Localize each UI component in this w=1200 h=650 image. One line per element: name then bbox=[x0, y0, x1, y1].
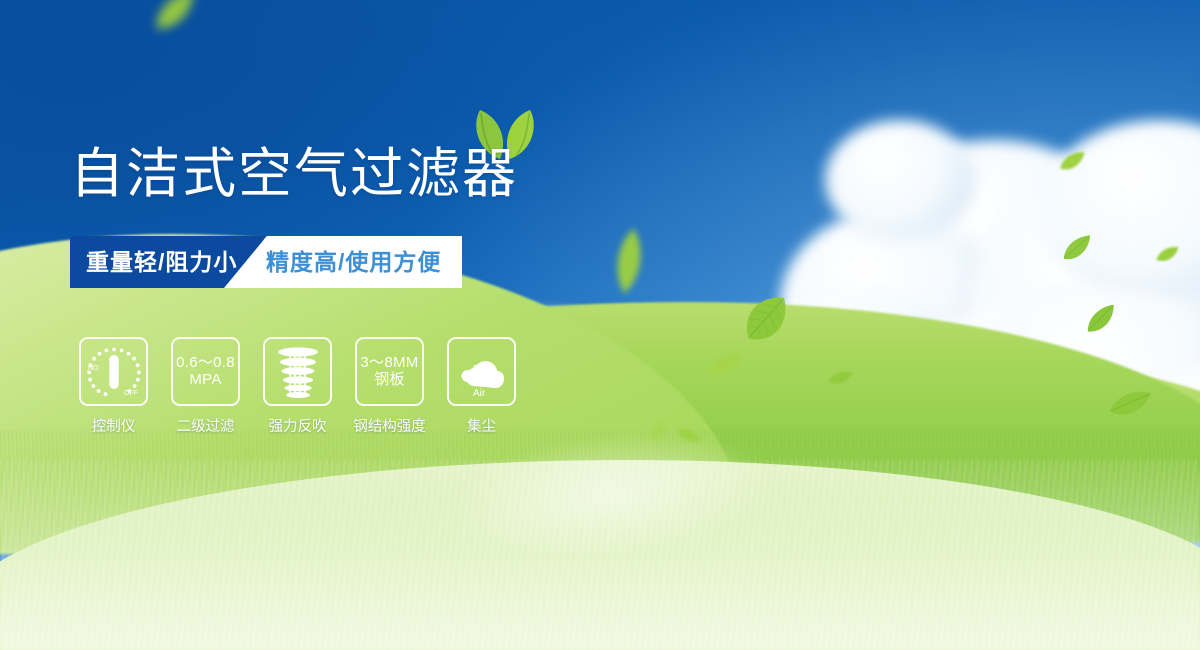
subtitle-right-text: 精度高/使用方便 bbox=[266, 236, 441, 288]
gauge-switch-icon: NO OFF bbox=[79, 337, 148, 406]
pressure-text-icon: 0.6～0.8 MPA bbox=[171, 337, 240, 406]
steel-material: 钢板 bbox=[360, 372, 418, 389]
feature-label: 钢结构强度 bbox=[353, 415, 426, 436]
feature-list: NO OFF 控制仪 0.6～0.8 MPA 二级过滤 bbox=[78, 337, 517, 436]
feature-item-control-gauge[interactable]: NO OFF 控制仪 bbox=[78, 337, 149, 436]
pressure-value: 0.6～0.8 bbox=[176, 354, 235, 371]
feature-item-dust-collection[interactable]: Air 集尘 bbox=[446, 337, 517, 436]
filter-cartridge-icon bbox=[263, 337, 332, 406]
feature-label: 控制仪 bbox=[92, 415, 136, 436]
air-cloud-icon: Air bbox=[447, 337, 516, 406]
air-label: Air bbox=[473, 388, 486, 398]
feature-item-backflush[interactable]: 强力反吹 bbox=[262, 337, 333, 436]
pressure-unit: MPA bbox=[176, 372, 235, 389]
page-title: 自洁式空气过滤器 bbox=[70, 142, 518, 206]
feature-item-pressure[interactable]: 0.6～0.8 MPA 二级过滤 bbox=[170, 337, 241, 436]
steel-thickness: 3～8MM bbox=[360, 354, 418, 371]
subtitle-left-text: 重量轻/阻力小 bbox=[86, 236, 237, 288]
gauge-off-label: OFF bbox=[124, 390, 138, 397]
gauge-no-label: NO bbox=[88, 365, 99, 372]
banner-content: 自洁式空气过滤器 重量轻/阻力小 精度高/使用方便 bbox=[0, 0, 1200, 650]
feature-label: 集尘 bbox=[467, 415, 496, 436]
subtitle-bar: 重量轻/阻力小 精度高/使用方便 bbox=[70, 236, 462, 288]
steel-plate-text-icon: 3～8MM 钢板 bbox=[355, 337, 424, 406]
feature-item-steel-structure[interactable]: 3～8MM 钢板 钢结构强度 bbox=[354, 337, 425, 436]
feature-label: 二级过滤 bbox=[177, 415, 235, 436]
product-banner: 自洁式空气过滤器 重量轻/阻力小 精度高/使用方便 bbox=[0, 0, 1200, 650]
feature-label: 强力反吹 bbox=[269, 415, 327, 436]
